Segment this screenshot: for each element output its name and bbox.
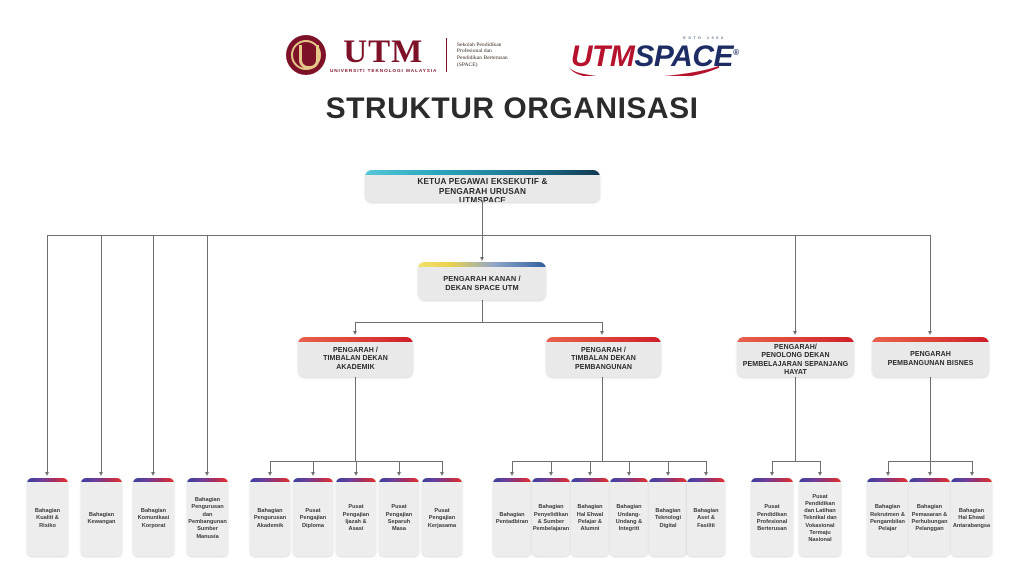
- page-title: STRUKTUR ORGANISASI: [0, 92, 1024, 126]
- connector-main-bus: [47, 235, 931, 236]
- node-unit-pendidikan-profesional[interactable]: PusatPendidikanProfesionalBerterusan: [751, 478, 793, 556]
- arrow-director-akademik: [353, 331, 357, 335]
- connector-senior-down: [482, 300, 483, 322]
- arrow-pembangunan-leaf-4: [627, 472, 631, 476]
- utm-logo-divider: [446, 38, 447, 72]
- node-unit-teknologi-digital-label: BahagianTeknologiDigital: [649, 482, 687, 556]
- node-director-psh-label: PENGARAH/PENOLONG DEKANPEMBELAJARAN SEPA…: [737, 342, 854, 377]
- node-unit-penyelidikan-sumber-label: BahagianPenyelidikan& SumberPembelajaran: [532, 482, 570, 556]
- arrow-pembangunan-leaf-5: [666, 472, 670, 476]
- utmspace-logo: ESTD 1993 UTMSPACE®: [571, 32, 739, 78]
- utm-space-logo: UTM UNIVERSITI TEKNOLOGI MALAYSIA Sekola…: [286, 32, 515, 78]
- arrow-psh-leaf-1: [770, 472, 774, 476]
- node-ceo-label: KETUA PEGAWAI EKSEKUTIF &PENGARAH URUSAN…: [365, 175, 600, 202]
- connector-psh-bus: [772, 461, 820, 462]
- connector-senior-split: [355, 322, 603, 323]
- connector-akademik-down: [355, 377, 356, 461]
- utm-wordmark-block: UTM UNIVERSITI TEKNOLOGI MALAYSIA: [331, 37, 436, 74]
- node-unit-kewangan-label: BahagianKewangan: [81, 482, 122, 556]
- node-unit-kualiti-risiko[interactable]: BahagianKualiti &Risiko: [27, 478, 68, 556]
- arrow-director-pembangunan: [600, 331, 604, 335]
- org-chart-page: UTM UNIVERSITI TEKNOLOGI MALAYSIA Sekola…: [0, 0, 1024, 588]
- node-unit-sumber-manusia-label: BahagianPengurusandanPembangunanSumberMa…: [187, 482, 228, 556]
- node-director-akademik[interactable]: PENGARAH /TIMBALAN DEKANAKADEMIK: [298, 337, 413, 377]
- connector-bus-to-senior: [482, 235, 483, 258]
- arrow-unit-3: [151, 472, 155, 476]
- node-senior-director-label: PENGARAH KANAN /DEKAN SPACE UTM: [418, 267, 546, 300]
- node-unit-pengurusan-akademik[interactable]: BahagianPengurusanAkademik: [250, 478, 290, 556]
- connector-bus-drop-4: [207, 235, 208, 473]
- node-unit-komunikasi-korporat-label: BahagianKomunikasiKorporat: [133, 482, 174, 556]
- node-director-bisnes-label: PENGARAHPEMBANGUNAN BISNES: [872, 342, 989, 377]
- connector-bisnes-down: [930, 377, 931, 461]
- node-unit-aset-fasiliti[interactable]: BahagianAset &Fasiliti: [687, 478, 725, 556]
- arrow-bisnes-leaf-2: [928, 472, 932, 476]
- arrow-akademik-leaf-2: [311, 472, 315, 476]
- node-unit-pendidikan-profesional-label: PusatPendidikanProfesionalBerterusan: [751, 482, 793, 556]
- node-unit-pengajian-separuh-masa-label: PusatPengajianSeparuh Masa: [379, 482, 419, 556]
- utm-wordmark: UTM: [343, 37, 423, 68]
- connector-ceo-down: [482, 200, 483, 235]
- node-unit-hal-ehwal-antarabangsa-label: BahagianHal EhwalAntarabangsa: [951, 482, 992, 556]
- node-unit-hal-ehwal-antarabangsa[interactable]: BahagianHal EhwalAntarabangsa: [951, 478, 992, 556]
- node-unit-pemasaran-pelanggan[interactable]: BahagianPemasaran &PerhubunganPelanggan: [909, 478, 950, 556]
- node-unit-kualiti-risiko-label: BahagianKualiti &Risiko: [27, 482, 68, 556]
- utmspace-estd-text: ESTD 1993: [683, 35, 725, 40]
- arrow-akademik-leaf-4: [397, 472, 401, 476]
- node-unit-pemasaran-pelanggan-label: BahagianPemasaran &PerhubunganPelanggan: [909, 482, 950, 556]
- node-unit-penyelidikan-sumber[interactable]: BahagianPenyelidikan& SumberPembelajaran: [532, 478, 570, 556]
- node-unit-undang-undang-integriti[interactable]: BahagianUndang-Undang &Integriti: [610, 478, 648, 556]
- node-unit-pengajian-separuh-masa[interactable]: PusatPengajianSeparuh Masa: [379, 478, 419, 556]
- node-unit-teknologi-digital[interactable]: BahagianTeknologiDigital: [649, 478, 687, 556]
- node-unit-pengajian-diploma[interactable]: PusatPengajianDiploma: [293, 478, 333, 556]
- node-ceo[interactable]: KETUA PEGAWAI EKSEKUTIF &PENGARAH URUSAN…: [365, 170, 600, 202]
- node-unit-sumber-manusia[interactable]: BahagianPengurusandanPembangunanSumberMa…: [187, 478, 228, 556]
- arrow-director-bisnes: [928, 331, 932, 335]
- arrow-director-psh: [793, 331, 797, 335]
- arrow-pembangunan-leaf-1: [510, 472, 514, 476]
- utm-sidetext: Sekolah Pendidikan Profesional dan Pendi…: [457, 42, 515, 68]
- node-director-bisnes[interactable]: PENGARAHPEMBANGUNAN BISNES: [872, 337, 989, 377]
- node-unit-pengajian-ijazah-asasi[interactable]: PusatPengajianIjazah &Asasi: [336, 478, 376, 556]
- connector-bus-drop-psh: [795, 235, 796, 332]
- node-unit-undang-undang-integriti-label: BahagianUndang-Undang &Integriti: [610, 482, 648, 556]
- arrow-bisnes-leaf-3: [970, 472, 974, 476]
- arrow-akademik-leaf-5: [440, 472, 444, 476]
- arrow-psh-leaf-2: [818, 472, 822, 476]
- arrow-senior: [480, 257, 484, 261]
- node-director-psh[interactable]: PENGARAH/PENOLONG DEKANPEMBELAJARAN SEPA…: [737, 337, 854, 377]
- node-unit-hal-ehwal-pelajar[interactable]: BahagianHal EhwalPelajar &Alumni: [571, 478, 609, 556]
- utm-subtext: UNIVERSITI TEKNOLOGI MALAYSIA: [330, 68, 437, 74]
- node-director-pembangunan[interactable]: PENGARAH /TIMBALAN DEKANPEMBANGUNAN: [546, 337, 661, 377]
- node-unit-pengajian-diploma-label: PusatPengajianDiploma: [293, 482, 333, 556]
- arrow-pembangunan-leaf-2: [549, 472, 553, 476]
- node-unit-tvet-nasional-label: PusatPendidikandan LatihanTeknikal danVo…: [799, 482, 841, 556]
- node-unit-pentadbiran-label: BahagianPentadbiran: [493, 482, 531, 556]
- node-unit-rekrutmen-pelajar-label: BahagianRekrutmen &PengambilanPelajar: [867, 482, 908, 556]
- arrow-bisnes-leaf-1: [886, 472, 890, 476]
- node-unit-pengajian-kerjasama-label: PusatPengajianKerjasama: [422, 482, 462, 556]
- node-unit-pengajian-ijazah-asasi-label: PusatPengajianIjazah &Asasi: [336, 482, 376, 556]
- connector-pembangunan-bus: [512, 461, 706, 462]
- node-director-pembangunan-label: PENGARAH /TIMBALAN DEKANPEMBANGUNAN: [546, 342, 661, 377]
- node-unit-komunikasi-korporat[interactable]: BahagianKomunikasiKorporat: [133, 478, 174, 556]
- arrow-unit-4: [205, 472, 209, 476]
- arrow-pembangunan-leaf-6: [704, 472, 708, 476]
- utm-seal-icon: [286, 35, 326, 75]
- arrow-akademik-leaf-3: [354, 472, 358, 476]
- node-unit-pentadbiran[interactable]: BahagianPentadbiran: [493, 478, 531, 556]
- registered-mark-icon: ®: [733, 48, 738, 57]
- node-unit-pengajian-kerjasama[interactable]: PusatPengajianKerjasama: [422, 478, 462, 556]
- arrow-unit-2: [99, 472, 103, 476]
- connector-pembangunan-down: [602, 377, 603, 461]
- connector-bus-drop-bisnes: [930, 235, 931, 332]
- utmspace-swoosh-icon: [569, 65, 719, 76]
- arrow-pembangunan-leaf-3: [588, 472, 592, 476]
- node-unit-tvet-nasional[interactable]: PusatPendidikandan LatihanTeknikal danVo…: [799, 478, 841, 556]
- node-unit-hal-ehwal-pelajar-label: BahagianHal EhwalPelajar &Alumni: [571, 482, 609, 556]
- connector-bus-drop-2: [101, 235, 102, 473]
- connector-bus-drop-1: [47, 235, 48, 473]
- arrow-unit-1: [45, 472, 49, 476]
- connector-bus-drop-3: [153, 235, 154, 473]
- connector-psh-down: [795, 377, 796, 461]
- node-director-akademik-label: PENGARAH /TIMBALAN DEKANAKADEMIK: [298, 342, 413, 377]
- logo-row: UTM UNIVERSITI TEKNOLOGI MALAYSIA Sekola…: [0, 28, 1024, 82]
- node-unit-pengurusan-akademik-label: BahagianPengurusanAkademik: [250, 482, 290, 556]
- node-senior-director[interactable]: PENGARAH KANAN /DEKAN SPACE UTM: [418, 262, 546, 300]
- node-unit-aset-fasiliti-label: BahagianAset &Fasiliti: [687, 482, 725, 556]
- node-unit-rekrutmen-pelajar[interactable]: BahagianRekrutmen &PengambilanPelajar: [867, 478, 908, 556]
- node-unit-kewangan[interactable]: BahagianKewangan: [81, 478, 122, 556]
- arrow-akademik-leaf-1: [268, 472, 272, 476]
